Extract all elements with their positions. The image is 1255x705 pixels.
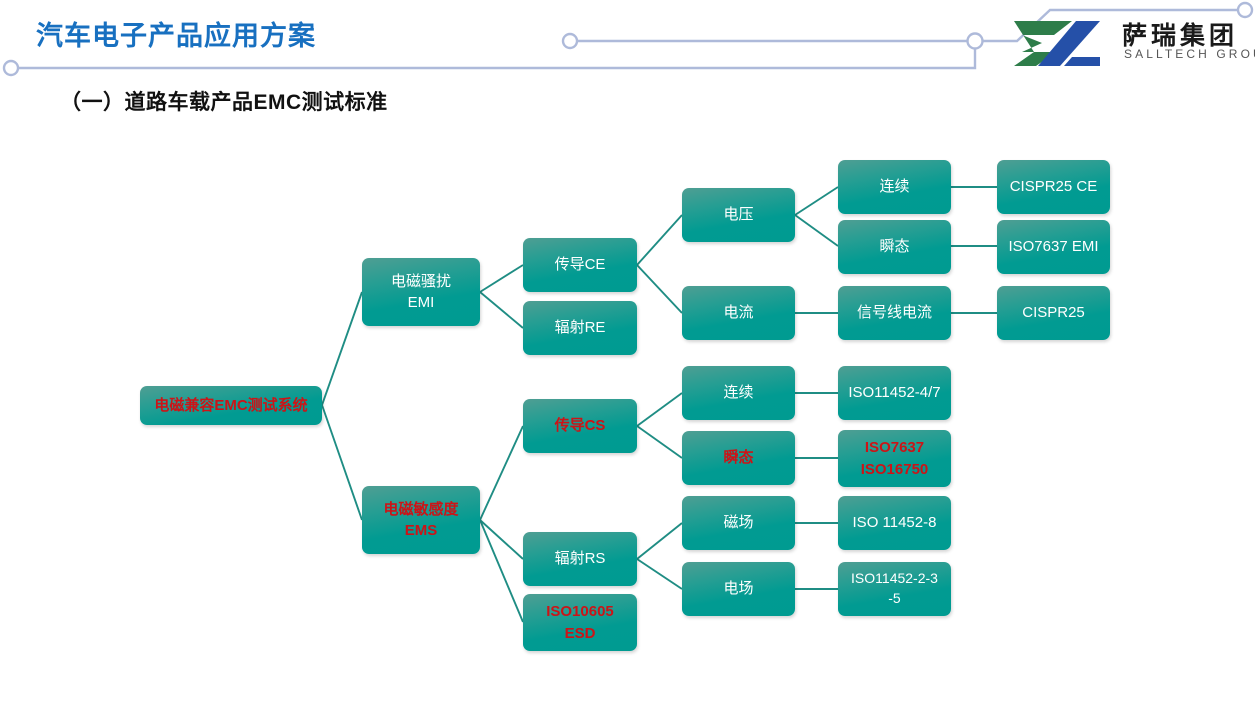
node-standard-iso11452-8[interactable]: ISO 11452-8	[838, 496, 951, 550]
node-voltage[interactable]: 电压	[682, 188, 795, 242]
node-conducted-ce[interactable]: 传导CE	[523, 238, 637, 292]
node-standard-iso11452-2-3-5-line-1: -5	[888, 589, 900, 609]
node-emi-line-0: 电磁骚扰	[391, 271, 451, 292]
node-cs-continuous-line-0: 连续	[723, 382, 753, 403]
node-ems-line-0: 电磁敏感度	[383, 499, 458, 520]
node-magnetic-field[interactable]: 磁场	[682, 496, 795, 550]
node-ems[interactable]: 电磁敏感度 EMS	[362, 486, 480, 554]
node-standard-cispr25-ce-line-0: CISPR25 CE	[1010, 176, 1098, 197]
node-emi-line-1: EMI	[408, 292, 435, 313]
node-radiated-rs-line-0: 辐射RS	[555, 548, 606, 569]
node-standard-iso11452-4-7[interactable]: ISO11452-4/7	[838, 366, 951, 420]
node-signal-line-current[interactable]: 信号线电流	[838, 286, 951, 340]
node-emi[interactable]: 电磁骚扰 EMI	[362, 258, 480, 326]
node-standard-cispr25-line-0: CISPR25	[1022, 302, 1085, 323]
node-current[interactable]: 电流	[682, 286, 795, 340]
node-esd[interactable]: ISO10605 ESD	[523, 594, 637, 651]
emc-test-standard-tree: 电磁兼容EMC测试系统 电磁骚扰 EMI 电磁敏感度 EMS 传导CE 辐射RE…	[0, 0, 1255, 705]
node-emi-continuous[interactable]: 连续	[838, 160, 951, 214]
node-radiated-rs[interactable]: 辐射RS	[523, 532, 637, 586]
node-standard-iso11452-2-3-5[interactable]: ISO11452-2-3 -5	[838, 562, 951, 616]
node-conducted-cs-line-0: 传导CS	[555, 415, 606, 436]
node-standard-iso11452-2-3-5-line-0: ISO11452-2-3	[851, 569, 938, 589]
node-electric-field-line-0: 电场	[723, 578, 753, 599]
node-root[interactable]: 电磁兼容EMC测试系统	[140, 386, 322, 425]
node-signal-line-current-line-0: 信号线电流	[857, 302, 932, 323]
node-emi-continuous-line-0: 连续	[879, 176, 909, 197]
node-conducted-cs[interactable]: 传导CS	[523, 399, 637, 453]
node-emi-transient-line-0: 瞬态	[879, 236, 909, 257]
node-standard-iso7637-iso16750-line-1: ISO16750	[861, 459, 929, 480]
node-standard-cispr25-ce[interactable]: CISPR25 CE	[997, 160, 1110, 214]
node-standard-iso7637-emi-line-0: ISO7637 EMI	[1008, 236, 1098, 257]
node-voltage-line-0: 电压	[723, 204, 753, 225]
node-cs-transient[interactable]: 瞬态	[682, 431, 795, 485]
slide-canvas: 汽车电子产品应用方案 （一）道路车载产品EMC测试标准 萨瑞集团 SALLTEC…	[0, 0, 1255, 705]
node-current-line-0: 电流	[723, 302, 753, 323]
node-standard-iso11452-4-7-line-0: ISO11452-4/7	[848, 382, 940, 403]
node-root-line-0: 电磁兼容EMC测试系统	[154, 395, 307, 416]
node-standard-iso7637-emi[interactable]: ISO7637 EMI	[997, 220, 1110, 274]
node-magnetic-field-line-0: 磁场	[723, 512, 753, 533]
node-ems-line-1: EMS	[405, 520, 438, 541]
node-radiated-re[interactable]: 辐射RE	[523, 301, 637, 355]
node-conducted-ce-line-0: 传导CE	[555, 254, 606, 275]
node-esd-line-1: ESD	[565, 623, 596, 644]
node-cs-transient-line-0: 瞬态	[723, 447, 753, 468]
node-cs-continuous[interactable]: 连续	[682, 366, 795, 420]
node-radiated-re-line-0: 辐射RE	[555, 317, 606, 338]
node-esd-line-0: ISO10605	[546, 601, 614, 622]
node-emi-transient[interactable]: 瞬态	[838, 220, 951, 274]
node-standard-iso7637-iso16750[interactable]: ISO7637 ISO16750	[838, 430, 951, 487]
node-standard-iso7637-iso16750-line-0: ISO7637	[865, 437, 924, 458]
node-standard-cispr25[interactable]: CISPR25	[997, 286, 1110, 340]
node-electric-field[interactable]: 电场	[682, 562, 795, 616]
node-standard-iso11452-8-line-0: ISO 11452-8	[853, 512, 937, 533]
